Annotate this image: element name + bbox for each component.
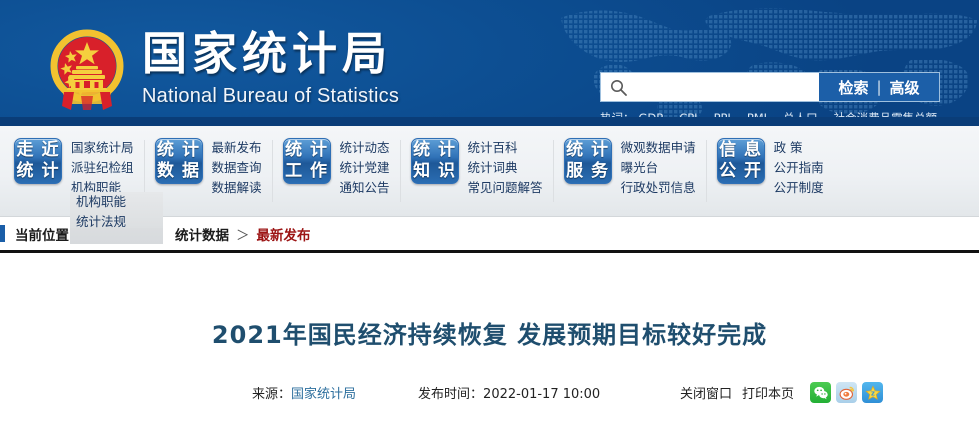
nav-links-statistics-data: 最新发布 数据查询 数据解读 xyxy=(212,138,262,198)
nav-button-line1: 统 计 xyxy=(157,140,200,161)
site-header: 国家统计局 National Bureau of Statistics 检索 |… xyxy=(0,0,979,126)
nav-link-statistics-news[interactable]: 统计动态 xyxy=(340,138,390,158)
nav-link-nbs[interactable]: 国家统计局 xyxy=(71,138,134,158)
nav-button-information-disclosure[interactable]: 信 息 公 开 xyxy=(717,138,765,184)
favorite-share-icon[interactable]: Z xyxy=(862,382,883,403)
site-brand: 国家统计局 National Bureau of Statistics xyxy=(142,28,399,108)
nav-group-statistics-work: 统 计 工 作 统计动态 统计党建 通知公告 xyxy=(283,138,390,198)
article-source-label: 来源： xyxy=(252,387,291,402)
nav-link-data-interpretation[interactable]: 数据解读 xyxy=(212,178,262,198)
weibo-share-icon[interactable] xyxy=(836,382,857,403)
nav-button-statistics-knowledge[interactable]: 统 计 知 识 xyxy=(411,138,459,184)
page-title: 2021年国民经济持续恢复 发展预期目标较好完成 xyxy=(0,253,979,350)
article-actions: 关闭窗口 打印本页 xyxy=(680,382,883,403)
nav-link-discipline-group[interactable]: 派驻纪检组 xyxy=(71,158,134,178)
nav-button-line2: 工 作 xyxy=(285,161,328,182)
nav-button-line1: 信 息 xyxy=(719,140,762,161)
nav-button-statistics-service[interactable]: 统 计 服 务 xyxy=(564,138,612,184)
nav-divider xyxy=(553,140,554,202)
breadcrumb-current: 最新发布 xyxy=(257,224,311,244)
article-time-label: 发布时间： xyxy=(418,387,483,402)
nav-button-statistics-data[interactable]: 统 计 数 据 xyxy=(155,138,203,184)
header-bottom-strip xyxy=(0,117,979,126)
article-source: 来源：国家统计局 xyxy=(252,383,356,402)
nav-button-line2: 统 计 xyxy=(17,161,60,182)
nav-links-statistics-work: 统计动态 统计党建 通知公告 xyxy=(340,138,390,198)
search-icon xyxy=(601,73,635,101)
search-bar[interactable]: 检索 | 高级 xyxy=(600,72,940,102)
nav-divider xyxy=(400,140,401,202)
nav-link-party-building[interactable]: 统计党建 xyxy=(340,158,390,178)
nav-link-announcements[interactable]: 通知公告 xyxy=(340,178,390,198)
nav-button-line2: 数 据 xyxy=(157,161,200,182)
print-page-button[interactable]: 打印本页 xyxy=(742,383,794,402)
nav-link-faq[interactable]: 常见问题解答 xyxy=(468,178,543,198)
nav-button-statistics-work[interactable]: 统 计 工 作 xyxy=(283,138,331,184)
nav-links-statistics-service: 微观数据申请 曝光台 行政处罚信息 xyxy=(621,138,696,198)
dropdown-item-regulations[interactable]: 统计法规 xyxy=(76,212,163,232)
close-window-button[interactable]: 关闭窗口 xyxy=(680,383,732,402)
nav-divider xyxy=(706,140,707,202)
nav-button-line1: 统 计 xyxy=(285,140,328,161)
nav-group-statistics-data: 统 计 数 据 最新发布 数据查询 数据解读 xyxy=(155,138,262,198)
wechat-share-icon[interactable] xyxy=(810,382,831,403)
breadcrumb-marker-icon xyxy=(0,225,5,242)
nav-link-latest-release[interactable]: 最新发布 xyxy=(212,138,262,158)
breadcrumb-label: 当前位置 xyxy=(15,224,69,244)
breadcrumb-item-statistics-data[interactable]: 统计数据 xyxy=(175,224,229,244)
nav-button-line1: 统 计 xyxy=(413,140,456,161)
search-input[interactable] xyxy=(635,73,819,101)
share-icons: Z xyxy=(810,382,883,403)
nav-link-data-query[interactable]: 数据查询 xyxy=(212,158,262,178)
nav-button-line1: 走 近 xyxy=(17,140,60,161)
nav-group-statistics-service: 统 计 服 务 微观数据申请 曝光台 行政处罚信息 xyxy=(564,138,696,198)
search-divider: | xyxy=(876,78,881,96)
article-source-link[interactable]: 国家统计局 xyxy=(291,387,356,402)
nav-divider xyxy=(272,140,273,202)
nav-link-encyclopedia[interactable]: 统计百科 xyxy=(468,138,543,158)
dropdown-item-functions[interactable]: 机构职能 xyxy=(76,192,163,212)
search-button[interactable]: 检索 xyxy=(838,77,868,98)
breadcrumb-separator-icon: ＞ xyxy=(236,224,250,244)
nav-group-information-disclosure: 信 息 公 开 政 策 公开指南 公开制度 xyxy=(717,138,824,198)
nav-link-dictionary[interactable]: 统计词典 xyxy=(468,158,543,178)
svg-text:Z: Z xyxy=(871,391,875,397)
nav-group-statistics-knowledge: 统 计 知 识 统计百科 统计词典 常见问题解答 xyxy=(411,138,543,198)
article-time-value: 2022-01-17 10:00 xyxy=(483,387,600,402)
nav-link-microdata-application[interactable]: 微观数据申请 xyxy=(621,138,696,158)
nav-link-policy[interactable]: 政 策 xyxy=(774,138,824,158)
nav-button-approach-statistics[interactable]: 走 近 统 计 xyxy=(14,138,62,184)
site-name-en: National Bureau of Statistics xyxy=(142,85,399,108)
article-meta-row: 来源：国家统计局 发布时间：2022-01-17 10:00 关闭窗口 打印本页 xyxy=(0,383,979,402)
nav-links-statistics-knowledge: 统计百科 统计词典 常见问题解答 xyxy=(468,138,543,198)
nav-link-exposure-platform[interactable]: 曝光台 xyxy=(621,158,696,178)
nav-link-penalty-info[interactable]: 行政处罚信息 xyxy=(621,178,696,198)
nav-button-line2: 公 开 xyxy=(719,161,762,182)
search-buttons[interactable]: 检索 | 高级 xyxy=(819,73,939,101)
nav-button-line2: 服 务 xyxy=(566,161,609,182)
site-name-cn: 国家统计局 xyxy=(142,28,399,80)
advanced-search-button[interactable]: 高级 xyxy=(890,77,920,98)
main-navigation: 走 近 统 计 国家统计局 派驻纪检组 机构职能 统计法规 统 计 数 据 最新… xyxy=(0,126,979,217)
nav-link-disclosure-guide[interactable]: 公开指南 xyxy=(774,158,824,178)
article-publish-time: 发布时间：2022-01-17 10:00 xyxy=(418,383,600,402)
nav-dropdown-panel-approach-statistics[interactable]: 机构职能 统计法规 xyxy=(70,192,163,228)
nav-links-information-disclosure: 政 策 公开指南 公开制度 xyxy=(774,138,824,198)
national-emblem-icon xyxy=(48,26,126,112)
nav-link-disclosure-system[interactable]: 公开制度 xyxy=(774,178,824,198)
article-section: 2021年国民经济持续恢复 发展预期目标较好完成 来源：国家统计局 发布时间：2… xyxy=(0,253,979,424)
nav-button-line1: 统 计 xyxy=(566,140,609,161)
article-meta-left: 来源：国家统计局 发布时间：2022-01-17 10:00 xyxy=(252,383,600,402)
nav-button-line2: 知 识 xyxy=(413,161,456,182)
world-map-background xyxy=(559,0,979,126)
